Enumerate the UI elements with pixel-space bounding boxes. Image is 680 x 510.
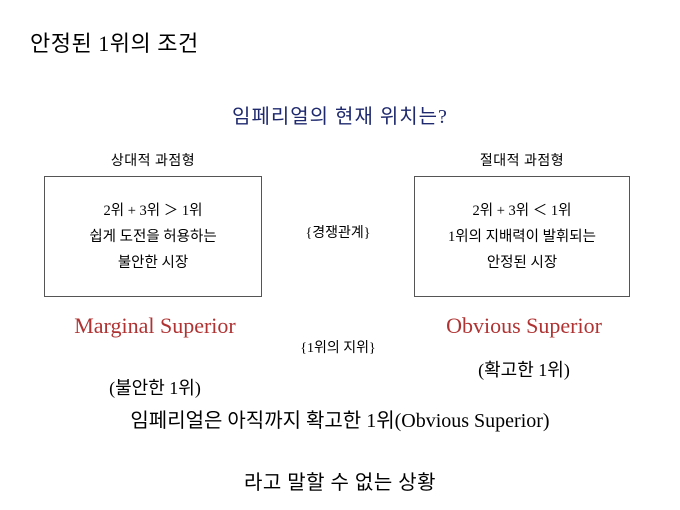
market-box-right-line-3: 안정된 시장 [487,250,557,276]
slide-title: 안정된 1위의 조건 [30,26,199,58]
conclusion-line-1: 임페리얼은 아직까지 확고한 1위(Obvious Superior) [85,407,595,436]
slide-canvas: 안정된 1위의 조건 임페리얼의 현재 위치는? 상대적 과점형 2위 + 3위… [0,0,680,510]
status-caption-right: (확고한 1위) [424,356,624,382]
status-heading-left: Marginal Superior [60,313,250,338]
market-box-right: 2위 + 3위 ＜ 1위 1위의 지배력이 발휘되는 안정된 시장 [414,176,630,297]
market-box-left-line-2: 쉽게 도전을 허용하는 [89,224,216,250]
center-note-rank: {1위의 지위} [288,338,388,359]
market-box-left: 2위 + 3위 ＞ 1위 쉽게 도전을 허용하는 불안한 시장 [44,176,262,297]
market-box-left-line-3: 불안한 시장 [118,250,188,276]
status-heading-right: Obvious Superior [404,313,644,338]
market-box-left-line-1: 2위 + 3위 ＞ 1위 [104,198,203,224]
status-caption-left: (불안한 1위) [55,374,255,400]
column-header-left: 상대적 과점형 [44,150,262,170]
market-box-right-line-1: 2위 + 3위 ＜ 1위 [473,198,572,224]
conclusion-line-2: 라고 말할 수 없는 상황 [140,466,540,495]
column-header-right: 절대적 과점형 [414,150,630,170]
slide-subtitle: 임페리얼의 현재 위치는? [0,100,680,129]
market-box-right-line-2: 1위의 지배력이 발휘되는 [448,224,596,250]
center-note-competition: {경쟁관계} [272,222,404,242]
